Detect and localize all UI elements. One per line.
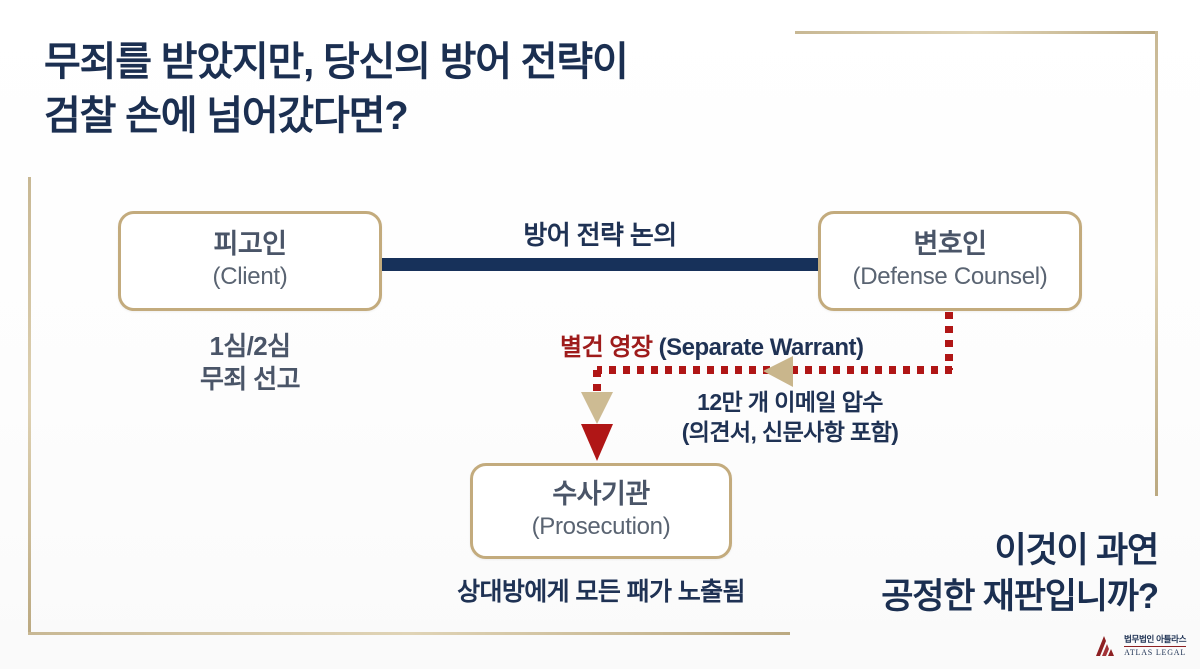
- slide-headline: 무죄를 받았지만, 당신의 방어 전략이 검찰 손에 넘어갔다면?: [44, 36, 804, 143]
- frame-line-top-right: [795, 31, 1158, 34]
- brand-logo-text: 법무법인 아틀라스 ATLAS LEGAL: [1124, 635, 1186, 657]
- node-defense-counsel[interactable]: 변호인 (Defense Counsel): [818, 211, 1082, 311]
- node-client-title-ko: 피고인: [213, 230, 286, 260]
- connector-client-defense: [381, 258, 819, 271]
- frame-line-bottom: [28, 632, 790, 635]
- frame-line-right: [1155, 31, 1158, 496]
- node-defense-title-en: (Defense Counsel): [853, 262, 1048, 292]
- atlas-mountain-icon: [1093, 633, 1119, 659]
- brand-name-en: ATLAS LEGAL: [1124, 647, 1186, 657]
- frame-line-left: [28, 177, 31, 635]
- caption-client-verdict: 1심/2심 무죄 선고: [118, 330, 382, 397]
- arrowhead-down-red: [581, 424, 613, 461]
- node-prosecution[interactable]: 수사기관 (Prosecution): [470, 463, 732, 559]
- closing-question: 이것이 과연 공정한 재판입니까?: [738, 528, 1158, 620]
- warrant-label-en: (Separate Warrant): [659, 334, 864, 361]
- slide-canvas: 무죄를 받았지만, 당신의 방어 전략이 검찰 손에 넘어갔다면? 방어 전략 …: [0, 0, 1200, 669]
- node-client-title-en: (Client): [213, 262, 288, 292]
- link-label-separate-warrant: 별건 영장 (Separate Warrant): [560, 327, 960, 362]
- brand-name-ko: 법무법인 아틀라스: [1124, 635, 1186, 647]
- node-client[interactable]: 피고인 (Client): [118, 211, 382, 311]
- link-label-discussion: 방어 전략 논의: [400, 215, 800, 252]
- arrowhead-down-tan: [581, 392, 613, 424]
- node-defense-title-ko: 변호인: [913, 230, 986, 260]
- caption-seized-emails: 12만 개 이메일 압수 (의견서, 신문사항 포함): [630, 387, 950, 448]
- warrant-label-ko: 별건 영장: [560, 334, 659, 361]
- node-prosecution-title-en: (Prosecution): [532, 512, 671, 542]
- node-prosecution-title-ko: 수사기관: [552, 480, 649, 510]
- brand-logo: 법무법인 아틀라스 ATLAS LEGAL: [1093, 626, 1197, 666]
